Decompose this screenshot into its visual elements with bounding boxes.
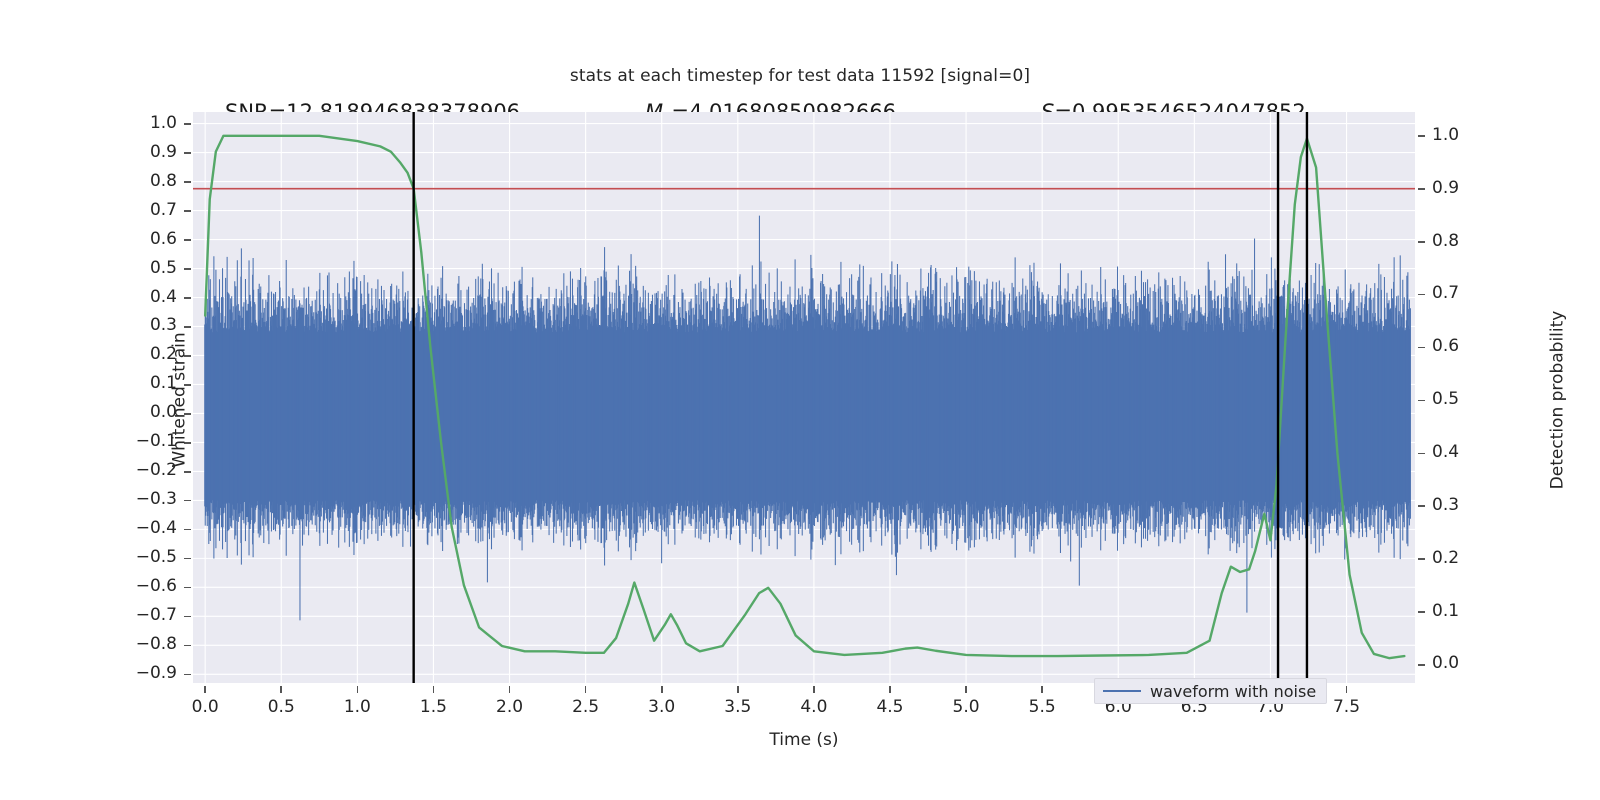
ytick-label-left-18: −0.8 — [0, 634, 177, 654]
x-axis-label: Time (s) — [193, 730, 1415, 750]
ytick-mark-left-14 — [184, 529, 191, 531]
xtick-label-9: 4.5 — [850, 697, 930, 717]
y-axis-label-left: Whitened strain — [170, 332, 190, 467]
xtick-label-10: 5.0 — [926, 697, 1006, 717]
xtick-label-11: 5.5 — [1002, 697, 1082, 717]
ytick-label-left-17: −0.7 — [0, 605, 177, 625]
y-axis-label-right: Detection probability — [1547, 311, 1567, 490]
ytick-label-left-13: −0.3 — [0, 489, 177, 509]
ytick-mark-right-1 — [1418, 188, 1425, 190]
ytick-label-left-8: 0.2 — [0, 344, 177, 364]
xtick-mark-7 — [737, 686, 739, 693]
plot-title: stats at each timestep for test data 115… — [0, 66, 1600, 86]
ytick-mark-left-16 — [184, 587, 191, 589]
ytick-label-left-4: 0.6 — [0, 229, 177, 249]
ytick-mark-right-7 — [1418, 505, 1425, 507]
ytick-mark-right-2 — [1418, 241, 1425, 243]
ytick-mark-left-13 — [184, 500, 191, 502]
ytick-label-left-14: −0.4 — [0, 518, 177, 538]
xtick-mark-1 — [280, 686, 282, 693]
ytick-mark-right-6 — [1418, 453, 1425, 455]
xtick-label-2: 1.0 — [317, 697, 397, 717]
legend-label-waveform: waveform with noise — [1150, 682, 1316, 701]
ytick-label-left-5: 0.5 — [0, 258, 177, 278]
xtick-mark-10 — [965, 686, 967, 693]
xtick-mark-4 — [509, 686, 511, 693]
xtick-mark-2 — [357, 686, 359, 693]
xtick-label-4: 2.0 — [470, 697, 550, 717]
xtick-label-3: 1.5 — [393, 697, 473, 717]
ytick-label-left-0: 1.0 — [0, 113, 177, 133]
ytick-mark-left-6 — [184, 297, 191, 299]
ytick-label-left-19: −0.9 — [0, 663, 177, 683]
ytick-label-right-3: 0.7 — [1432, 283, 1459, 303]
ytick-mark-left-3 — [184, 210, 191, 212]
ytick-label-left-11: −0.1 — [0, 431, 177, 451]
ytick-label-right-6: 0.4 — [1432, 442, 1459, 462]
ytick-label-left-9: 0.1 — [0, 373, 177, 393]
ytick-mark-right-8 — [1418, 558, 1425, 560]
ytick-mark-left-2 — [184, 181, 191, 183]
matplotlib-figure: stats at each timestep for test data 115… — [0, 0, 1600, 800]
ytick-label-right-4: 0.6 — [1432, 336, 1459, 356]
xtick-label-8: 4.0 — [774, 697, 854, 717]
ytick-mark-left-18 — [184, 645, 191, 647]
ytick-mark-left-4 — [184, 239, 191, 241]
ytick-mark-right-0 — [1418, 135, 1425, 137]
ytick-label-left-10: 0.0 — [0, 402, 177, 422]
ytick-label-left-15: −0.5 — [0, 547, 177, 567]
ytick-label-right-2: 0.8 — [1432, 231, 1459, 251]
ytick-label-right-8: 0.2 — [1432, 548, 1459, 568]
ytick-label-left-6: 0.4 — [0, 287, 177, 307]
ytick-mark-left-12 — [184, 471, 191, 473]
ytick-label-right-5: 0.5 — [1432, 389, 1459, 409]
ytick-mark-right-5 — [1418, 400, 1425, 402]
ytick-mark-right-9 — [1418, 611, 1425, 613]
xtick-mark-5 — [585, 686, 587, 693]
plot-legend[interactable]: waveform with noise — [1094, 678, 1327, 704]
ytick-mark-left-15 — [184, 558, 191, 560]
ytick-mark-left-19 — [184, 674, 191, 676]
ytick-label-left-12: −0.2 — [0, 460, 177, 480]
ytick-label-left-16: −0.6 — [0, 576, 177, 596]
ytick-label-left-1: 0.9 — [0, 142, 177, 162]
ytick-label-left-2: 0.8 — [0, 171, 177, 191]
series-waveform-with-noise — [205, 216, 1411, 621]
ytick-mark-left-0 — [184, 123, 191, 125]
ytick-mark-left-17 — [184, 616, 191, 618]
ytick-label-right-9: 0.1 — [1432, 601, 1459, 621]
xtick-mark-9 — [889, 686, 891, 693]
xtick-label-1: 0.5 — [241, 697, 321, 717]
ytick-label-right-0: 1.0 — [1432, 125, 1459, 145]
legend-swatch-waveform — [1103, 690, 1141, 692]
ytick-mark-right-10 — [1418, 664, 1425, 666]
xtick-mark-8 — [813, 686, 815, 693]
ytick-label-left-7: 0.3 — [0, 315, 177, 335]
ytick-mark-right-3 — [1418, 294, 1425, 296]
ytick-mark-right-4 — [1418, 347, 1425, 349]
xtick-mark-3 — [433, 686, 435, 693]
xtick-label-0: 0.0 — [165, 697, 245, 717]
xtick-mark-6 — [661, 686, 663, 693]
ytick-label-left-3: 0.7 — [0, 200, 177, 220]
xtick-label-6: 3.0 — [622, 697, 702, 717]
xtick-label-7: 3.5 — [698, 697, 778, 717]
xtick-mark-15 — [1346, 686, 1348, 693]
xtick-mark-0 — [204, 686, 206, 693]
plot-canvas — [193, 112, 1415, 683]
ytick-label-right-10: 0.0 — [1432, 653, 1459, 673]
xtick-mark-11 — [1041, 686, 1043, 693]
ytick-label-right-7: 0.3 — [1432, 495, 1459, 515]
xtick-label-5: 2.5 — [546, 697, 626, 717]
plot-area — [193, 112, 1415, 683]
ytick-mark-left-1 — [184, 152, 191, 154]
ytick-mark-left-5 — [184, 268, 191, 270]
ytick-label-right-1: 0.9 — [1432, 178, 1459, 198]
ytick-mark-left-7 — [184, 326, 191, 328]
